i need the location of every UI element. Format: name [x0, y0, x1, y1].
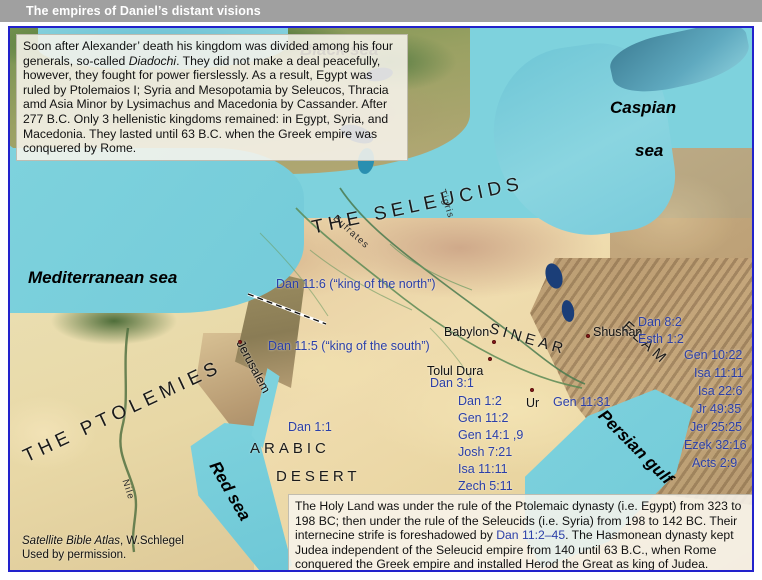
note-top-text: Soon after Alexander’ death his kingdom …	[23, 39, 401, 156]
credit-atlas-title: Satellite Bible Atlas	[22, 535, 120, 547]
city-dot-tolul-dura	[488, 357, 492, 361]
note-top-italic-term: Diadochi	[129, 54, 176, 68]
satellite-map: Black sea Caspian sea Mediterranean sea …	[10, 28, 752, 570]
credit-line-2: Used by permission.	[22, 548, 184, 562]
note-bottom-text: The Holy Land was under the rule of the …	[295, 499, 751, 570]
title-bar: The empires of Daniel’s distant visions	[0, 0, 762, 22]
note-box-bottom: The Holy Land was under the rule of the …	[288, 494, 752, 570]
credit-line-1: Satellite Bible Atlas, W.Schlegel	[22, 534, 184, 548]
city-dot-jerusalem	[238, 340, 242, 344]
kingdom-boundary-dashed-line	[246, 290, 330, 330]
city-dot-shushan	[586, 334, 590, 338]
city-dot-babylon	[492, 340, 496, 344]
note-bottom-scripture-ref: Dan 11:2–45	[496, 528, 565, 542]
map-page: The empires of Daniel’s distant visions	[0, 0, 762, 580]
page-title: The empires of Daniel’s distant visions	[0, 4, 261, 18]
credit-block: Satellite Bible Atlas, W.Schlegel Used b…	[22, 534, 184, 562]
note-box-top: Soon after Alexander’ death his kingdom …	[16, 34, 408, 161]
credit-author: , W.Schlegel	[120, 535, 184, 547]
map-frame: Black sea Caspian sea Mediterranean sea …	[8, 26, 754, 572]
city-dot-ur	[530, 388, 534, 392]
